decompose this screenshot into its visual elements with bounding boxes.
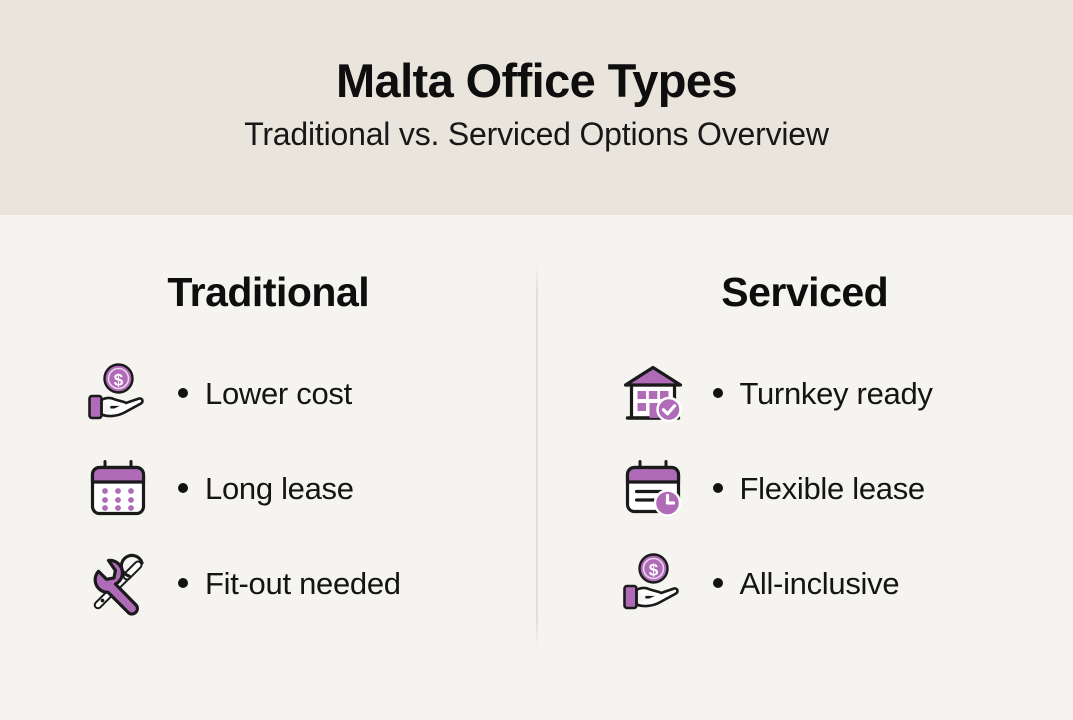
bullet-dot xyxy=(713,578,723,588)
hand-holding-coin-icon: $ xyxy=(617,550,689,616)
list-item: $ All-inclusive xyxy=(617,550,1073,616)
list-item-label: Fit-out needed xyxy=(205,568,401,599)
list-item-label: Lower cost xyxy=(205,378,352,409)
bullet-dot xyxy=(713,388,723,398)
list-item: $ Lower cost xyxy=(82,360,537,426)
column-title-serviced: Serviced xyxy=(537,272,1073,313)
header-band: Malta Office Types Traditional vs. Servi… xyxy=(0,0,1073,215)
list-item: Fit-out needed xyxy=(82,550,537,616)
page-title: Malta Office Types xyxy=(336,56,737,105)
columns-container: Traditional $ xyxy=(0,215,1073,720)
list-item: Turnkey ready xyxy=(617,360,1073,426)
list-item: Long lease xyxy=(82,455,537,521)
calendar-clock-icon xyxy=(617,455,689,521)
list-item-label: Turnkey ready xyxy=(740,378,933,409)
bullet-dot xyxy=(178,483,188,493)
bullet-dot xyxy=(178,388,188,398)
bullet-dot xyxy=(178,578,188,588)
feature-list-traditional: $ Lower cost xyxy=(82,360,537,616)
feature-list-serviced: Turnkey ready xyxy=(617,360,1073,616)
column-traditional: Traditional $ xyxy=(0,215,537,720)
column-serviced: Serviced xyxy=(537,215,1073,720)
hand-holding-coin-icon: $ xyxy=(82,360,154,426)
svg-text:$: $ xyxy=(114,371,124,390)
list-item: Flexible lease xyxy=(617,455,1073,521)
svg-text:$: $ xyxy=(648,561,658,580)
infographic-poster: Malta Office Types Traditional vs. Servi… xyxy=(0,0,1073,720)
list-item-label: Flexible lease xyxy=(740,473,925,504)
column-title-traditional: Traditional xyxy=(0,272,537,313)
list-item-label: All-inclusive xyxy=(740,568,900,599)
building-check-icon xyxy=(617,360,689,426)
list-item-label: Long lease xyxy=(205,473,354,504)
wrench-screwdriver-icon xyxy=(82,550,154,616)
page-subtitle: Traditional vs. Serviced Options Overvie… xyxy=(244,116,829,153)
bullet-dot xyxy=(713,483,723,493)
calendar-dots-icon xyxy=(82,455,154,521)
